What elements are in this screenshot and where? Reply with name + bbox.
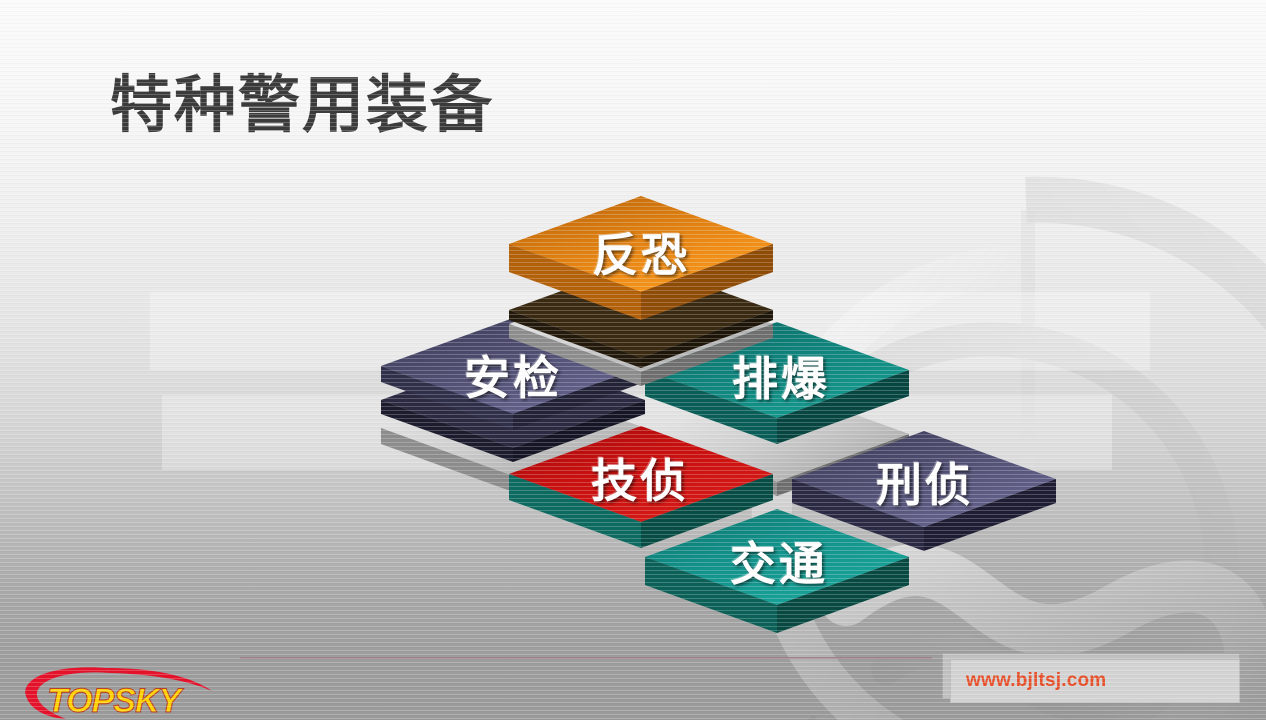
footer-divider	[240, 657, 932, 659]
isometric-block-diagram	[0, 0, 1266, 720]
presentation-slide: 特种警用装备	[0, 0, 1266, 720]
website-url-text[interactable]: www.bjltsj.com	[966, 670, 1106, 692]
website-url-box[interactable]: www.bjltsj.com	[938, 653, 1246, 705]
topsky-logo: TOPSKY	[14, 662, 236, 720]
svg-text:TOPSKY: TOPSKY	[47, 682, 185, 720]
